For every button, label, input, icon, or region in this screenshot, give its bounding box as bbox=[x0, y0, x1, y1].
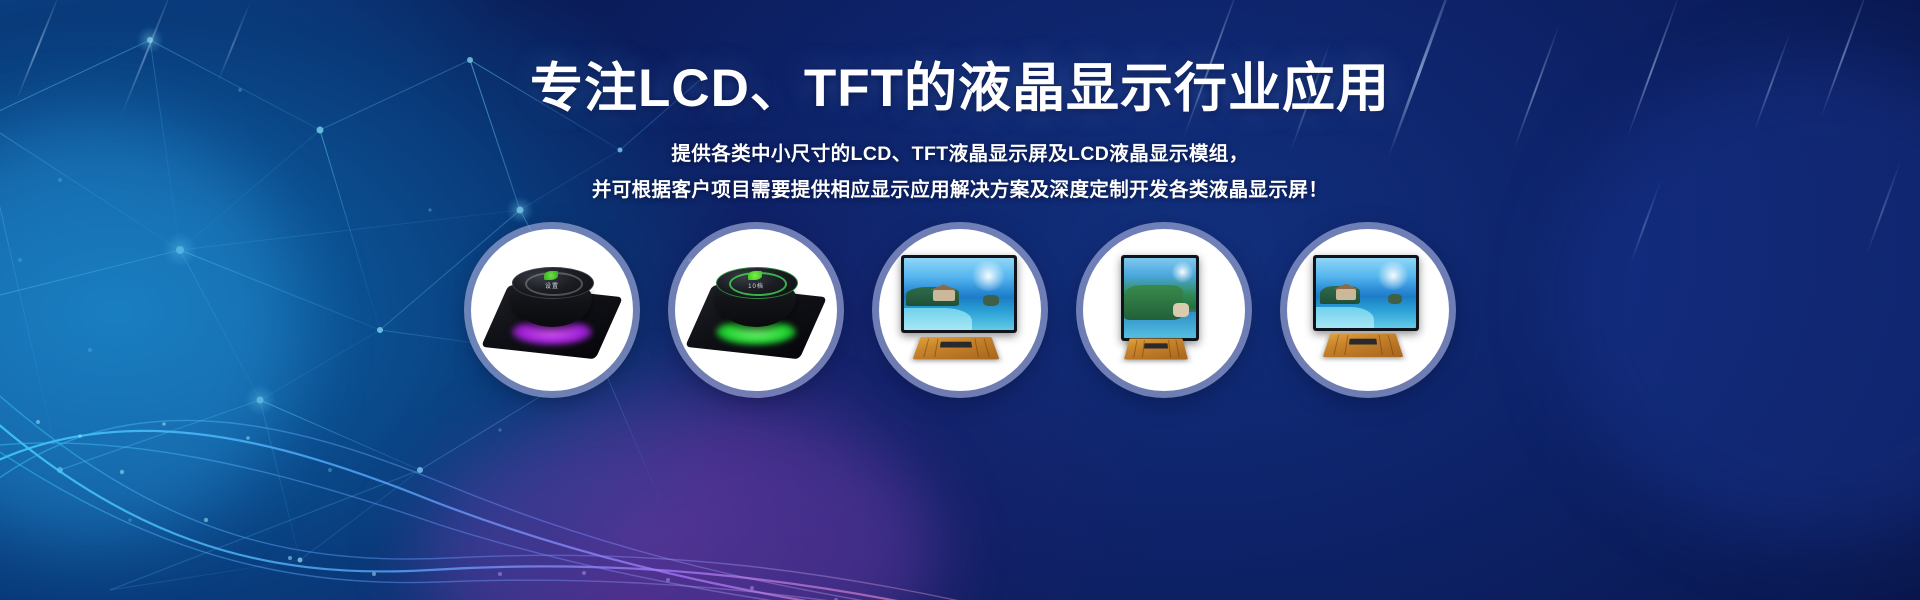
flex-cable bbox=[913, 337, 1000, 359]
tft-lcd-module-wide-2-image bbox=[1305, 251, 1431, 369]
puck-screen-label: 10档 bbox=[730, 281, 782, 290]
lcd-screen-scene bbox=[1316, 258, 1416, 328]
flex-cable bbox=[1124, 338, 1188, 359]
subtitle-line-2: 并可根据客户项目需要提供相应显示应用解决方案及深度定制开发各类液晶显示屏！ bbox=[0, 172, 1920, 208]
page-title: 专注LCD、TFT的液晶显示行业应用 bbox=[0, 60, 1920, 117]
product-circle-tft-lcd-module-wide[interactable] bbox=[879, 229, 1041, 391]
subtitle-line-1: 提供各类中小尺寸的LCD、TFT液晶显示屏及LCD液晶显示模组， bbox=[0, 136, 1920, 172]
puck-leaf-icon bbox=[748, 271, 762, 280]
puck-screen-label: 设置 bbox=[526, 281, 578, 290]
product-circle-tft-lcd-module-wide-2[interactable] bbox=[1287, 229, 1449, 391]
tft-lcd-module-wide-image bbox=[897, 251, 1023, 369]
lcd-screen-scene bbox=[1124, 258, 1196, 338]
smart-puck-green-image: 10档 bbox=[690, 257, 822, 363]
flex-cable bbox=[1323, 333, 1404, 357]
product-circle-smart-puck-purple[interactable]: 设置 bbox=[471, 229, 633, 391]
hero-subtitle: 提供各类中小尺寸的LCD、TFT液晶显示屏及LCD液晶显示模组， 并可根据客户项… bbox=[0, 136, 1920, 208]
lcd-screen-scene bbox=[904, 258, 1014, 330]
tft-lcd-module-square-image bbox=[1101, 251, 1227, 369]
hero-banner: 专注LCD、TFT的液晶显示行业应用 提供各类中小尺寸的LCD、TFT液晶显示屏… bbox=[0, 0, 1920, 600]
puck-leaf-icon bbox=[544, 271, 558, 280]
smart-puck-purple-image: 设置 bbox=[486, 257, 618, 363]
product-showcase-row: 设置 10档 bbox=[0, 229, 1920, 429]
product-circle-smart-puck-green[interactable]: 10档 bbox=[675, 229, 837, 391]
hero-text-block: 专注LCD、TFT的液晶显示行业应用 提供各类中小尺寸的LCD、TFT液晶显示屏… bbox=[0, 60, 1920, 208]
product-circle-tft-lcd-module-square[interactable] bbox=[1083, 229, 1245, 391]
